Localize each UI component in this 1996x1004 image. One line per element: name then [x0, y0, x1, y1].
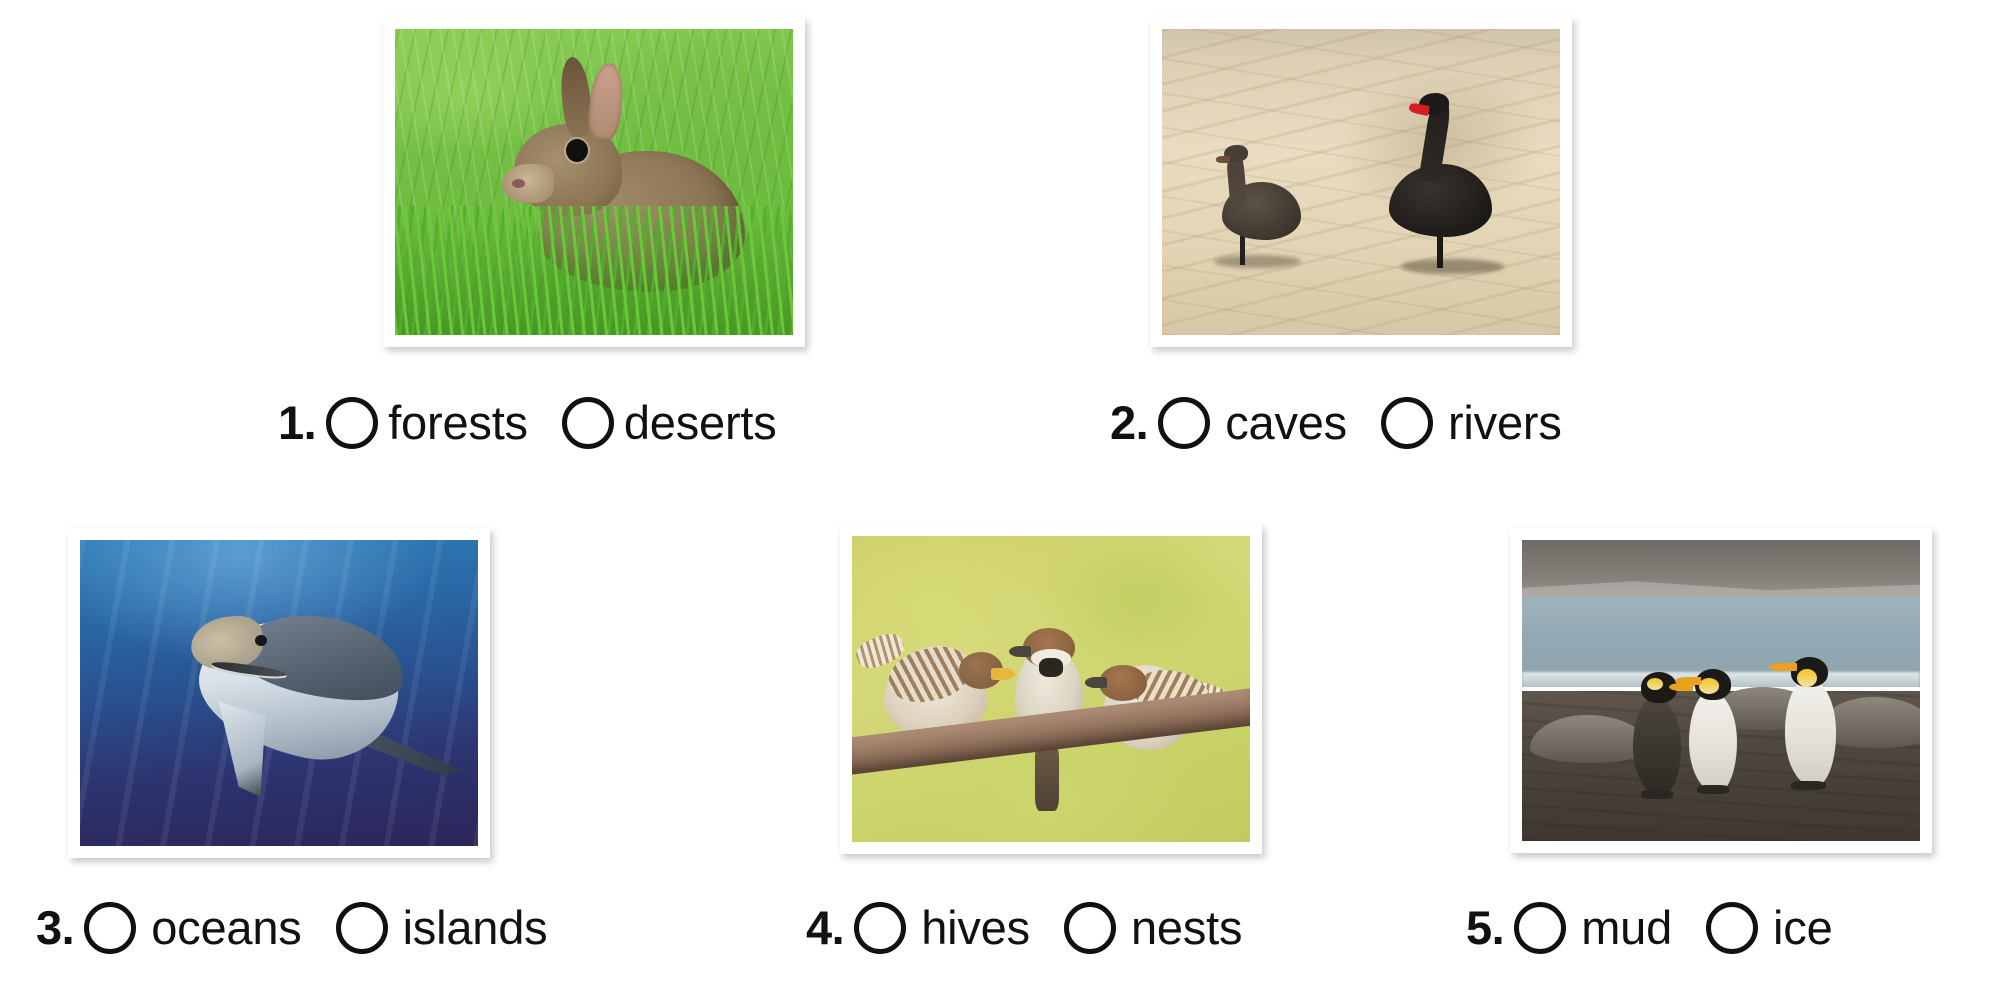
question-3-number: 3. — [36, 900, 74, 955]
penguin-left-feet — [1641, 790, 1673, 799]
question-4-option-1-label[interactable]: hives — [921, 900, 1030, 955]
rabbit-eye — [566, 139, 588, 162]
question-3: 3. oceans islands — [36, 900, 547, 955]
question-4-option-1-bubble[interactable] — [854, 902, 906, 954]
shark-eye — [255, 635, 267, 646]
question-1-option-2-bubble[interactable] — [562, 397, 614, 449]
great-white-shark-photo — [68, 528, 490, 858]
question-1-number: 1. — [278, 395, 316, 450]
question-3-option-1-label[interactable]: oceans — [151, 900, 301, 955]
penguin-middle-body — [1689, 691, 1737, 793]
question-5-option-1-bubble[interactable] — [1514, 902, 1566, 954]
sand-texture — [1162, 29, 1560, 335]
question-3-option-2-bubble[interactable] — [336, 902, 388, 954]
question-1-option-1-label[interactable]: forests — [388, 395, 528, 450]
question-5-option-1-label[interactable]: mud — [1581, 900, 1672, 955]
grass-foreground — [395, 206, 793, 335]
question-4: 4. hives nests — [806, 900, 1242, 955]
question-5: 5. mud ice — [1466, 900, 1833, 955]
photo-inner-shark — [80, 540, 478, 846]
question-4-option-2-label[interactable]: nests — [1131, 900, 1242, 955]
question-2-option-1-bubble[interactable] — [1158, 397, 1210, 449]
penguin-right-feet — [1791, 781, 1827, 791]
sparrow-right-beak — [1085, 677, 1107, 688]
sparrows-on-branch-photo — [840, 524, 1262, 854]
sparrow-left-beak — [991, 668, 1015, 680]
penguin-middle-beak — [1675, 677, 1701, 685]
penguin-middle-feet — [1697, 785, 1729, 794]
swan-beak-left — [1216, 156, 1230, 163]
swan-shadow-right — [1401, 259, 1504, 274]
rabbit-in-grass-photo — [383, 17, 805, 347]
rabbit-muzzle — [502, 164, 554, 204]
photo-inner-penguins — [1522, 540, 1920, 841]
sparrow-middle-tail — [1035, 744, 1059, 811]
question-1-option-1-bubble[interactable] — [326, 397, 378, 449]
penguin-right-body — [1785, 678, 1837, 786]
photo-inner-sparrows — [852, 536, 1250, 842]
question-4-number: 4. — [806, 900, 844, 955]
question-2: 2. caves rivers — [1110, 395, 1562, 450]
question-2-number: 2. — [1110, 395, 1148, 450]
question-1-option-2-label[interactable]: deserts — [624, 395, 777, 450]
sparrow-middle-beak — [1009, 646, 1031, 657]
worksheet-page: 1. forests deserts 2. caves rivers 3. oc… — [0, 0, 1996, 1004]
question-5-option-2-bubble[interactable] — [1706, 902, 1758, 954]
photo-inner-swans — [1162, 29, 1560, 335]
question-3-option-1-bubble[interactable] — [84, 902, 136, 954]
question-3-option-2-label[interactable]: islands — [403, 900, 548, 955]
question-5-option-2-label[interactable]: ice — [1773, 900, 1832, 955]
question-2-option-2-bubble[interactable] — [1381, 397, 1433, 449]
question-1: 1. forests deserts — [278, 395, 777, 450]
question-2-option-2-label[interactable]: rivers — [1448, 395, 1562, 450]
photo-inner-rabbit — [395, 29, 793, 335]
penguin-right-collar — [1797, 669, 1817, 687]
king-penguins-on-beach-photo — [1510, 528, 1932, 853]
black-swans-on-sand-photo — [1150, 17, 1572, 347]
question-2-option-1-label[interactable]: caves — [1225, 395, 1347, 450]
question-5-number: 5. — [1466, 900, 1504, 955]
sparrow-middle-bib — [1039, 658, 1063, 676]
penguin-middle-collar — [1699, 678, 1719, 693]
question-4-option-2-bubble[interactable] — [1064, 902, 1116, 954]
